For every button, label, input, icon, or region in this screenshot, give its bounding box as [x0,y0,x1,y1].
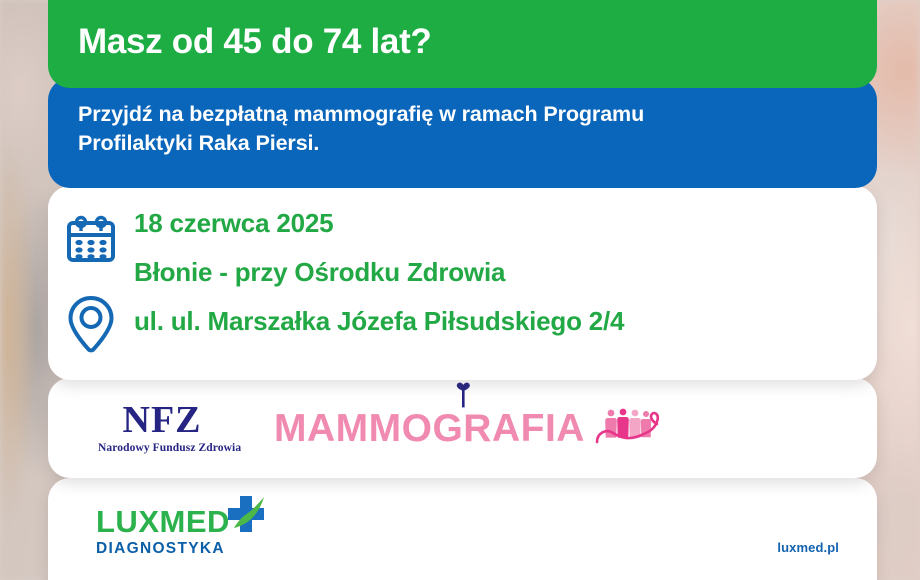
event-date: 18 czerwca 2025 [134,210,624,236]
nfz-subtitle: Narodowy Fundusz Zdrowia [98,443,226,455]
luxmed-subtitle: DIAGNOSTYKA [96,541,230,557]
details-icon-column [48,208,134,380]
nfz-logo: NFZ Narodowy Fundusz Zdrowia [98,401,226,455]
mammography-campaign-poster: Masz od 45 do 74 lat? Przyjdź na bezpłat… [0,0,920,580]
page-title: Masz od 45 do 74 lat? [78,24,432,59]
heart-icon [455,382,470,408]
partner-logos-card: NFZ Narodowy Fundusz Zdrowia MAMMOGRAFIA [48,378,877,478]
subhead-band: Przyjdź na bezpłatną mammografię w ramac… [48,78,877,188]
event-details-card: 18 czerwca 2025 Błonie - przy Ośrodku Zd… [48,186,877,380]
luxmed-diagnostyka-logo: LUXMED DIAGNOSTYKA [96,506,230,557]
event-place: Błonie - przy Ośrodku Zdrowia [134,259,624,285]
event-address: ul. ul. Marszałka Józefa Piłsudskiego 2/… [134,308,624,334]
female-figures-ribbon-icon [595,406,661,451]
mammografia-logo: MAMMOGRAFIA [274,406,661,451]
map-pin-icon [65,293,117,358]
subhead-line-1: Przyjdź na bezpłatną mammografię w ramac… [78,100,847,129]
luxmed-wordmark: LUXMED [96,506,230,537]
card-stack: Masz od 45 do 74 lat? Przyjdź na bezpłat… [48,0,877,580]
brand-card: LUXMED DIAGNOSTYKA luxmed.pl [48,478,877,580]
nfz-wordmark: NFZ [123,401,202,439]
website-link[interactable]: luxmed.pl [777,540,839,555]
medical-cross-icon [224,494,268,542]
details-text-column: 18 czerwca 2025 Błonie - przy Ośrodku Zd… [134,208,624,380]
mammografia-wordmark: MAMMOGRAFIA [274,409,585,448]
subhead-line-2: Profilaktyki Raka Piersi. [78,129,847,158]
calendar-icon [65,214,117,271]
headline-band: Masz od 45 do 74 lat? [48,0,877,88]
